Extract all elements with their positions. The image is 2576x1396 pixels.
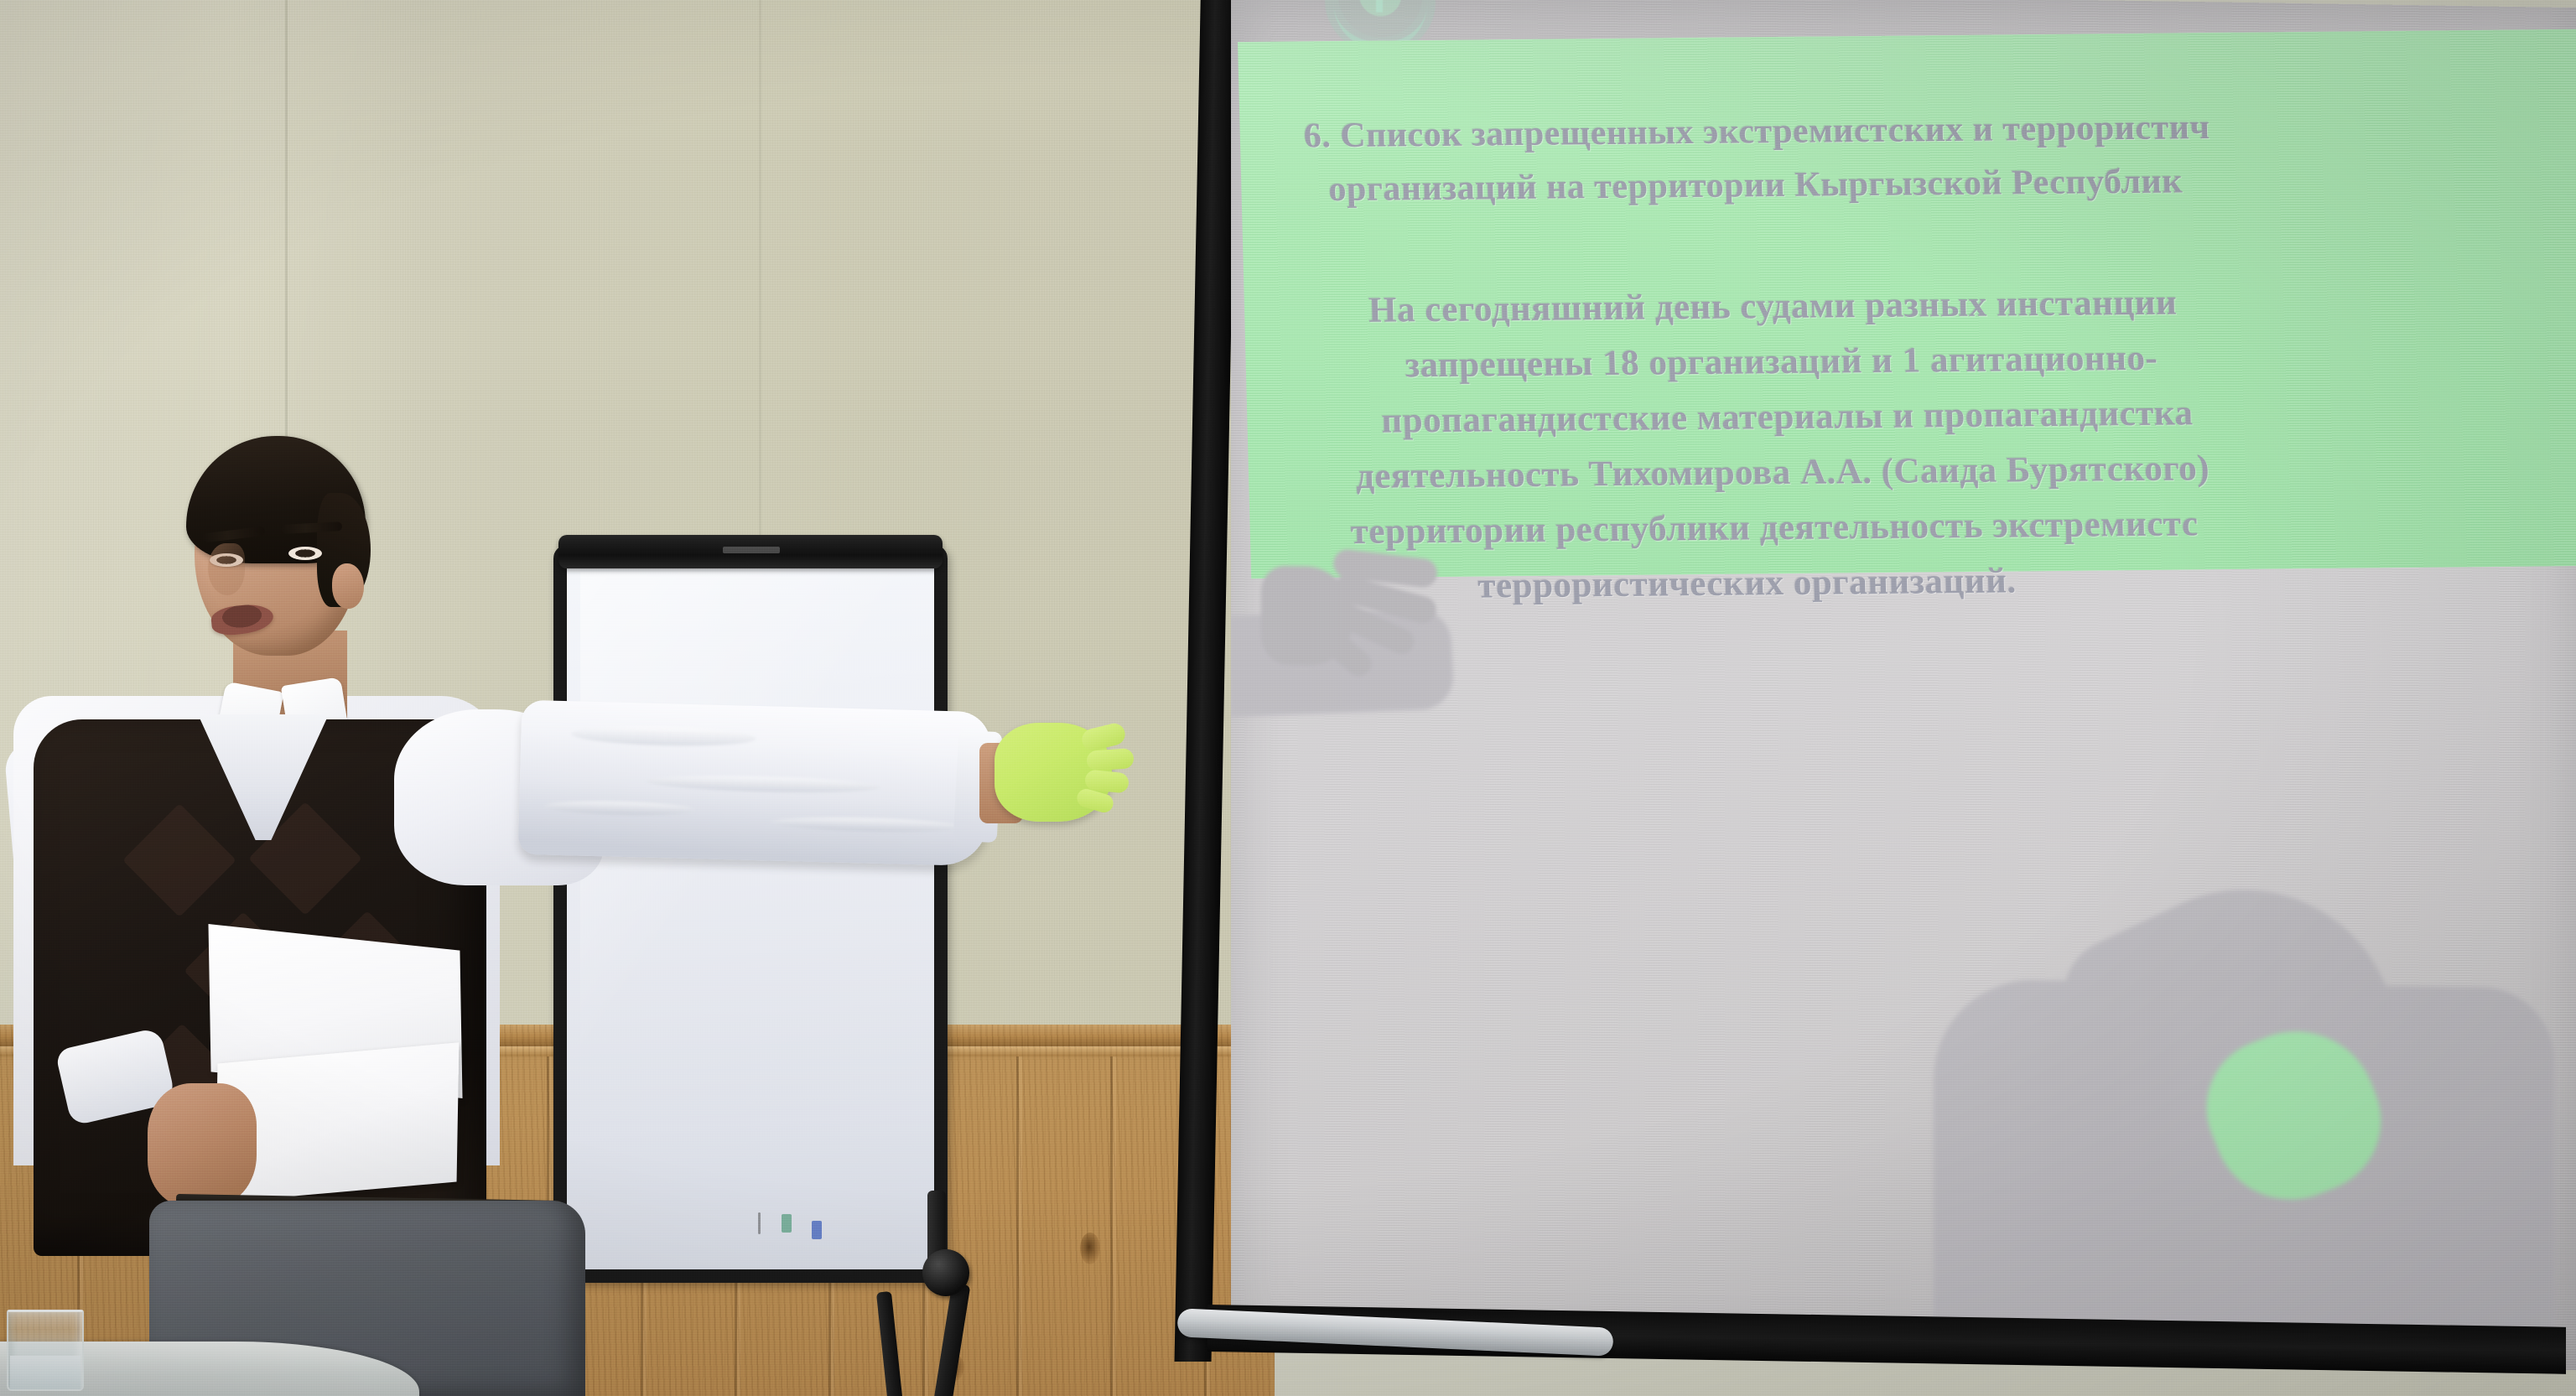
slide-body-line-2: запрещены 18 организаций и 1 агитационно… <box>1405 340 2158 384</box>
slide-body-line-3: пропагандистские материалы и пропагандис… <box>1381 395 2194 439</box>
sleeve-fold <box>544 799 695 817</box>
slide-title-line-1: 6. Список запрещенных экстремистских и т… <box>1303 110 2210 153</box>
slide-body-line-6: террористических организаций. <box>1478 563 2017 604</box>
presenter <box>0 0 1174 1396</box>
finger <box>1086 748 1135 771</box>
glass-water <box>10 1356 80 1389</box>
slide-body-line-4: деятельность Тихомирова А.А. (Саида Буря… <box>1356 450 2210 495</box>
drinking-glass[interactable] <box>7 1310 84 1391</box>
presentation-photo-scene: 6. Список запрещенных экстремистских и т… <box>0 0 2576 1396</box>
presenter-holding-hand <box>148 1083 257 1207</box>
slide-body-line-1: На сегодняшний день судами разных инстан… <box>1368 284 2178 328</box>
presenter-eye <box>288 547 322 560</box>
presenter-right-sleeve <box>518 700 992 867</box>
presenter-nose <box>208 543 245 595</box>
hand-shadow <box>1261 548 1437 684</box>
sleeve-fold <box>771 816 963 834</box>
slide-body-line-5: территории республики деятельность экстр… <box>1350 506 2199 550</box>
sleeve-fold <box>571 724 756 748</box>
screen-surface: 6. Список запрещенных экстремистских и т… <box>1231 0 2576 1370</box>
large-hand-shadow <box>1934 886 2554 1370</box>
sleeve-fold <box>646 774 880 795</box>
slide-title-line-2: организаций на территории Кыргызской Рес… <box>1328 163 2184 207</box>
presenter-pointing-hand <box>995 723 1112 822</box>
vest-diamond-pattern <box>122 803 236 917</box>
projection-screen: 6. Список запрещенных экстремистских и т… <box>1201 0 2576 1396</box>
projected-slide: 6. Список запрещенных экстремистских и т… <box>1238 29 2576 579</box>
presenter-ear <box>332 563 364 609</box>
